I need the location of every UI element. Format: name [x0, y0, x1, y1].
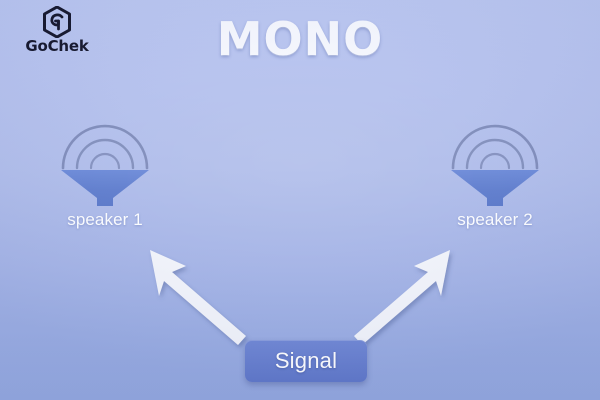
arrow-to-speaker-1 — [150, 250, 246, 345]
speaker-funnel-icon — [57, 108, 153, 208]
signal-node: Signal — [245, 340, 367, 382]
mono-audio-diagram: GoChek MONO speaker 1 — [0, 0, 600, 400]
page-title: MONO — [0, 12, 600, 66]
arrow-to-speaker-2 — [354, 250, 450, 345]
speaker-1-label: speaker 1 — [45, 210, 165, 230]
speaker-1-group: speaker 1 — [45, 108, 165, 230]
speaker-2-group: speaker 2 — [435, 108, 555, 230]
signal-label: Signal — [275, 348, 337, 374]
speaker-funnel-icon — [447, 108, 543, 208]
speaker-2-label: speaker 2 — [435, 210, 555, 230]
